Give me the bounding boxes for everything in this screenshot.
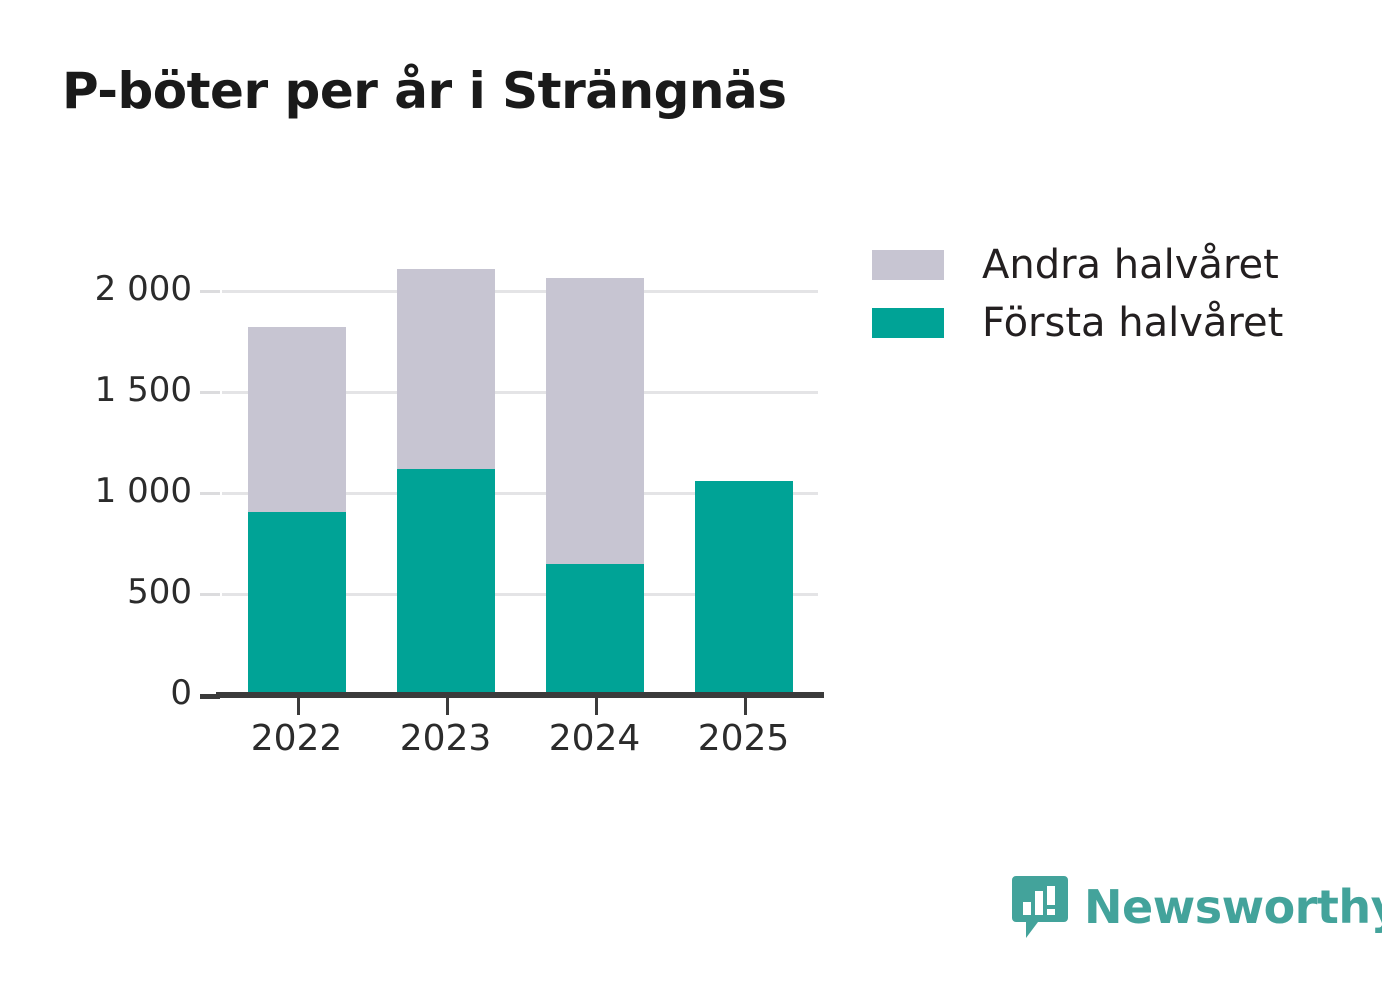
y-tick-mark	[200, 492, 220, 495]
bar-stack-2024[interactable]	[546, 290, 644, 694]
x-axis-line	[216, 692, 824, 698]
plot-area	[222, 240, 818, 694]
newsworthy-logo[interactable]: Newsworthy	[1012, 876, 1382, 938]
bar-segment[interactable]	[397, 269, 495, 469]
legend-label-andra-halvaret: Andra halvåret	[982, 242, 1279, 288]
chart-canvas: 05001 0001 5002 0002022202320242025	[0, 0, 1382, 999]
x-axis-tick-label-2023: 2023	[366, 718, 526, 759]
y-axis-tick-label: 2 000	[60, 272, 192, 306]
x-tick-mark	[744, 698, 747, 715]
y-axis-tick-label: 500	[60, 575, 192, 609]
bar-segment[interactable]	[546, 564, 644, 694]
bar-stack-2023[interactable]	[397, 290, 495, 694]
legend-swatch-andra-halvaret	[872, 250, 944, 280]
legend-item-forsta-halvaret[interactable]: Första halvåret	[872, 294, 1283, 352]
x-tick-mark	[297, 698, 300, 715]
bar-segment[interactable]	[546, 278, 644, 564]
legend-label-forsta-halvaret: Första halvåret	[982, 300, 1283, 346]
bar-stack-2025[interactable]	[695, 290, 793, 694]
x-axis-tick-label-2024: 2024	[515, 718, 675, 759]
bar-stack-2022[interactable]	[248, 290, 346, 694]
bar-segment[interactable]	[248, 512, 346, 694]
legend-swatch-forsta-halvaret	[872, 308, 944, 338]
y-axis-tick-label: 0	[60, 676, 192, 710]
y-axis-tick-label: 1 500	[60, 373, 192, 407]
x-axis-tick-label-2025: 2025	[664, 718, 824, 759]
x-axis-tick-label-2022: 2022	[217, 718, 377, 759]
y-axis-tick-label: 1 000	[60, 474, 192, 508]
newsworthy-bar-chart-bubble-icon	[1012, 876, 1068, 938]
y-tick-mark	[200, 593, 220, 596]
chart-legend: Andra halvåret Första halvåret	[872, 236, 1283, 352]
newsworthy-wordmark: Newsworthy	[1084, 880, 1382, 934]
bar-segment[interactable]	[397, 469, 495, 694]
x-tick-mark	[595, 698, 598, 715]
bar-segment[interactable]	[695, 481, 793, 694]
y-tick-mark	[200, 290, 220, 293]
legend-item-andra-halvaret[interactable]: Andra halvåret	[872, 236, 1283, 294]
x-tick-mark	[446, 698, 449, 715]
bar-segment[interactable]	[248, 327, 346, 512]
y-tick-mark	[200, 391, 220, 394]
